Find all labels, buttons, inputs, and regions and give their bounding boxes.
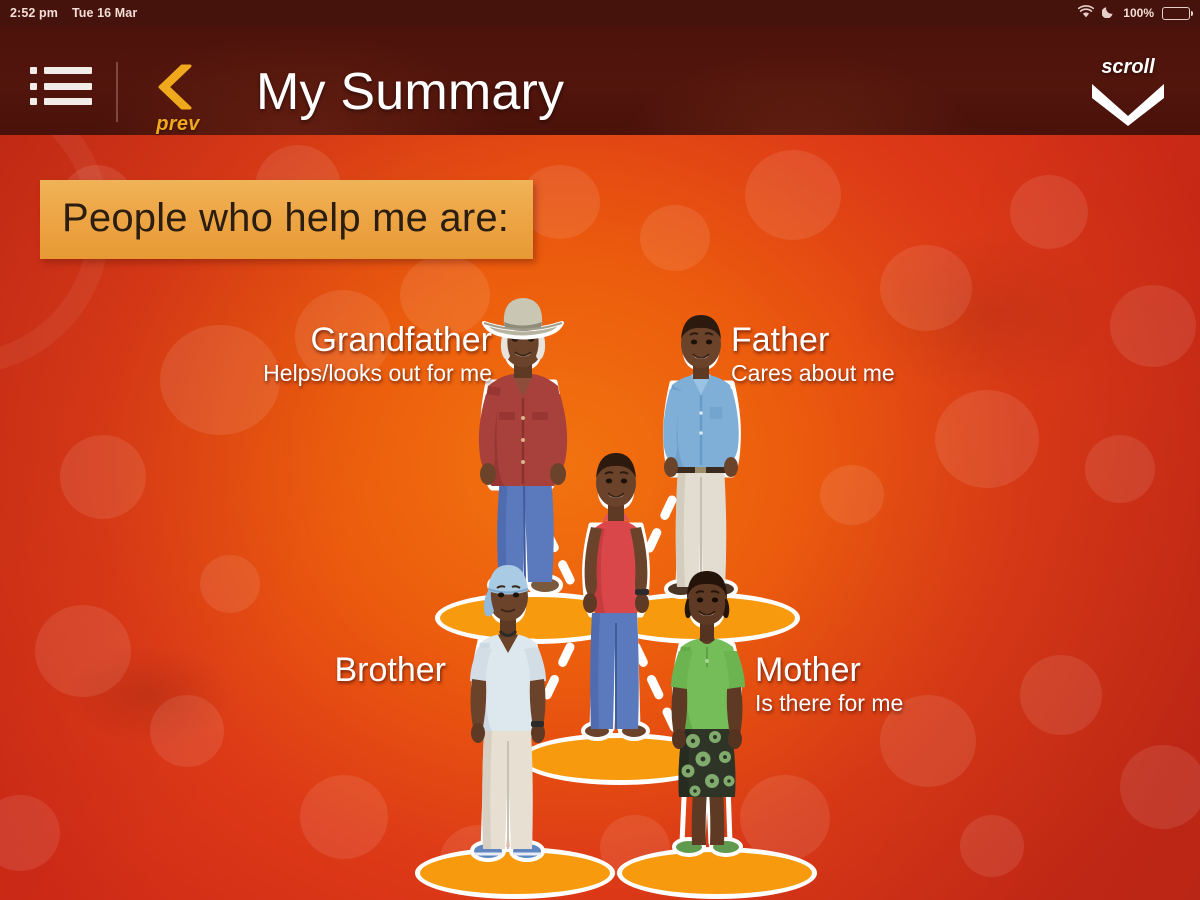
menu-row — [30, 98, 92, 105]
label-father-title: Father — [731, 323, 895, 358]
figure-self[interactable] — [566, 423, 666, 767]
label-grandfather: Grandfather Helps/looks out for me — [180, 323, 492, 387]
menu-dot — [30, 98, 37, 105]
label-father: Father Cares about me — [731, 323, 895, 387]
label-brother: Brother — [170, 653, 446, 690]
header-divider — [116, 62, 118, 122]
battery-full-icon — [1162, 7, 1190, 20]
figure-brother[interactable] — [456, 537, 560, 885]
label-father-subtitle: Cares about me — [731, 360, 895, 387]
figure-mother[interactable] — [657, 543, 757, 885]
menu-row — [30, 67, 92, 74]
wifi-icon — [1078, 5, 1094, 21]
moon-icon — [1102, 5, 1115, 21]
page-title: My Summary — [256, 62, 564, 122]
label-mother-title: Mother — [755, 653, 903, 688]
menu-bar — [44, 83, 92, 90]
list-menu-icon[interactable] — [30, 64, 92, 108]
prev-button[interactable]: prev — [145, 62, 211, 134]
label-grandfather-title: Grandfather — [180, 323, 492, 358]
label-grandfather-subtitle: Helps/looks out for me — [180, 360, 492, 387]
scroll-button[interactable]: scroll — [1082, 56, 1174, 131]
status-time: 2:52 pm — [10, 6, 58, 20]
chevron-left-icon — [145, 62, 211, 117]
label-brother-title: Brother — [170, 653, 446, 688]
label-mother-subtitle: Is there for me — [755, 690, 903, 717]
app-root: 2:52 pm Tue 16 Mar 100% — [0, 0, 1200, 900]
menu-bar — [44, 98, 92, 105]
prev-label: prev — [145, 113, 211, 136]
menu-row — [30, 83, 92, 90]
menu-dot — [30, 83, 37, 90]
scroll-label: scroll — [1082, 56, 1174, 79]
menu-dot — [30, 67, 37, 74]
chevron-down-icon — [1088, 113, 1168, 130]
label-mother: Mother Is there for me — [755, 653, 903, 717]
menu-bar — [44, 67, 92, 74]
relationship-diagram: Grandfather Helps/looks out for me Fathe… — [0, 135, 1200, 900]
status-bar-left: 2:52 pm Tue 16 Mar — [10, 6, 137, 20]
status-bar: 2:52 pm Tue 16 Mar 100% — [0, 0, 1200, 26]
status-date: Tue 16 Mar — [72, 6, 137, 20]
app-header: prev My Summary scroll — [0, 26, 1200, 135]
main-canvas: People who help me are: — [0, 135, 1200, 900]
battery-percent-label: 100% — [1123, 6, 1154, 20]
status-bar-right: 100% — [1078, 5, 1190, 21]
